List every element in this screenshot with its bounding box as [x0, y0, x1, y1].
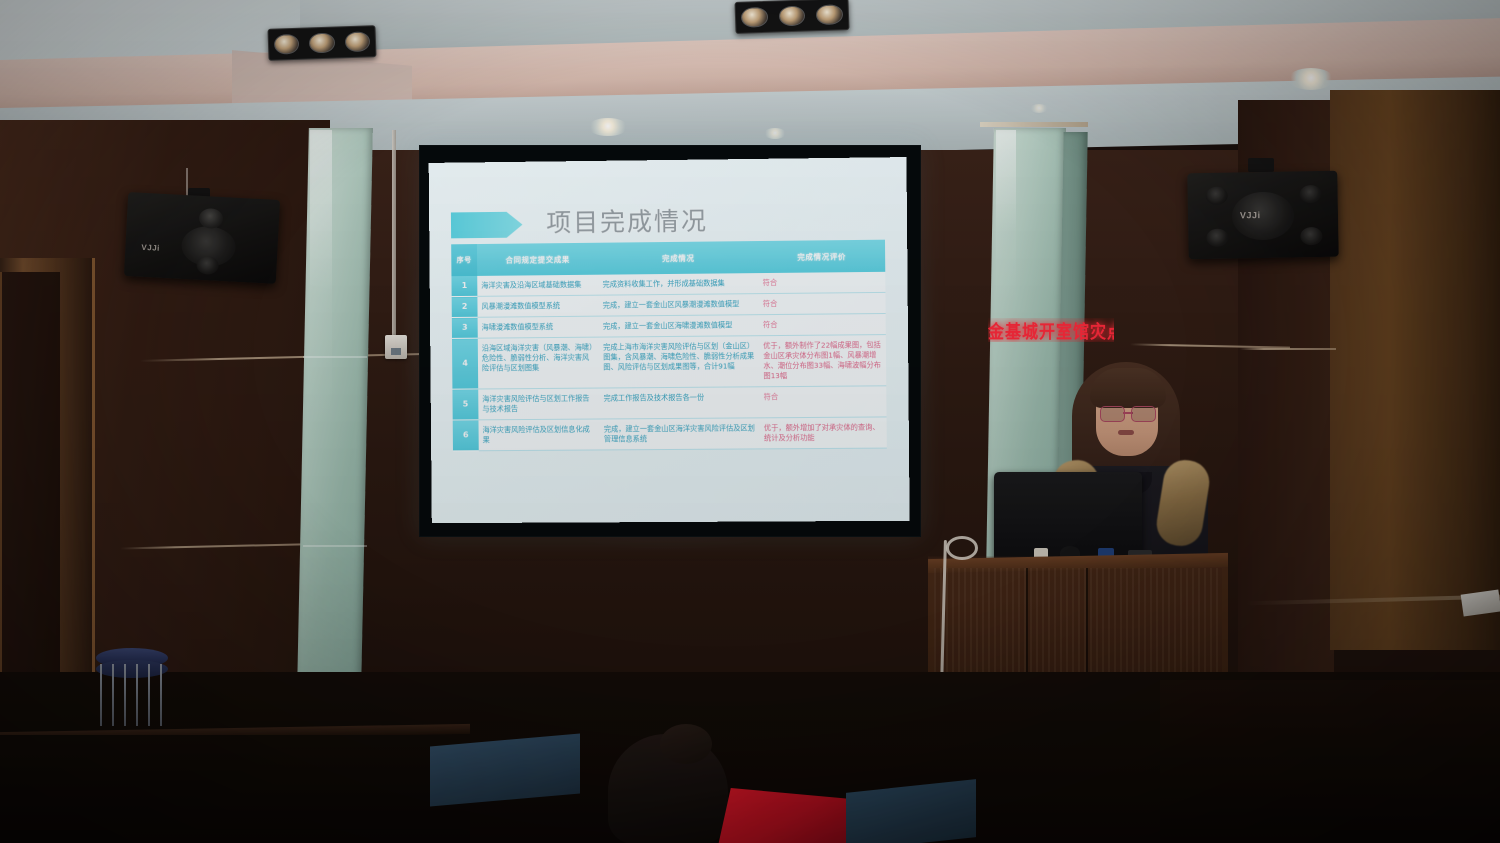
table-row: 4 沿海区域海洋灾害（风暴潮、海啸）危险性、脆弱性分析、海洋灾害风险评估与区划图…	[452, 335, 886, 390]
cell-no: 6	[453, 420, 479, 451]
glass-highlight	[996, 130, 1016, 310]
presenter-fringe	[1090, 368, 1166, 408]
cell-deliverable: 沿海区域海洋灾害（风暴潮、海啸）危险性、脆弱性分析、海洋灾害风险评估与区划图集	[478, 337, 600, 389]
slide-title: 项目完成情况	[546, 202, 708, 240]
glass-panel-seam	[303, 356, 367, 358]
speaker-tweeter-icon	[1299, 185, 1321, 203]
spotlight-lamp-icon	[309, 32, 335, 53]
cell-evaluation: 优于，额外增加了对承灾体的查询、统计及分析功能	[760, 417, 887, 449]
cell-status: 完成，建立一套金山区风暴潮漫滩数值模型	[599, 294, 759, 317]
foreground-right-shadow	[1160, 680, 1500, 843]
col-header-evaluation: 完成情况评价	[758, 240, 885, 273]
presenter-glasses	[1100, 406, 1156, 420]
cell-status: 完成，建立一套金山区海啸漫滩数值模型	[599, 315, 759, 337]
led-scrolling-banner: 金基城开室馆灾点	[988, 318, 1114, 342]
stool-seat-lower	[96, 660, 168, 678]
led-banner-text: 金基城开室馆灾点	[988, 318, 1114, 342]
mint-glass-column-left	[297, 128, 373, 688]
cell-evaluation: 优于，额外制作了22幅成果图，包括金山区承灾体分布图1幅、风暴潮增水、潮位分布图…	[759, 335, 886, 387]
wall-switch-plate[interactable]	[385, 335, 407, 359]
power-cable-loop	[946, 536, 978, 560]
stacked-stools[interactable]	[88, 648, 176, 736]
speaker-brand-label: VJJi	[141, 243, 160, 253]
cell-no: 3	[452, 317, 478, 338]
cell-no: 1	[451, 276, 477, 297]
stool-leg	[112, 664, 114, 726]
cell-deliverable: 风暴潮漫滩数值模型系统	[477, 295, 598, 317]
speaker-tweeter-icon	[1300, 227, 1322, 245]
right-wall-wood-panel	[1330, 90, 1500, 650]
stool-leg	[124, 664, 126, 726]
cell-evaluation: 符合	[759, 313, 886, 335]
glasses-lens-right-icon	[1131, 406, 1156, 422]
wall-trim-strip	[980, 122, 1088, 127]
audience-member-hair-bun	[660, 724, 712, 764]
switch-toggle-icon[interactable]	[391, 348, 401, 355]
ceiling-downlight	[1030, 104, 1048, 113]
ceiling-downlight	[588, 118, 628, 136]
table-row: 5 海洋灾害风险评估与区划工作报告与技术报告 完成工作报告及技术报告各一份 符合	[452, 386, 886, 420]
glass-highlight	[310, 130, 332, 430]
stool-leg	[100, 664, 102, 726]
presenter-mouth	[1118, 430, 1134, 435]
cell-evaluation: 符合	[759, 272, 886, 294]
title-arrow-shape	[451, 212, 523, 239]
stool-leg	[148, 664, 150, 726]
wall-speaker-left: VJJi	[124, 192, 280, 284]
cell-status: 完成上海市海洋灾害风险评估与区划（金山区）图集，含风暴潮、海啸危险性、脆弱性分析…	[599, 336, 759, 388]
ceiling-downlight	[1288, 68, 1334, 90]
spotlight-lamp-icon	[344, 31, 370, 52]
cell-evaluation: 符合	[760, 386, 887, 418]
stool-leg	[136, 664, 138, 726]
table-header-row: 序号 合同规定提交成果 完成情况 完成情况评价	[451, 240, 885, 277]
cell-deliverable: 海洋灾害风险评估与区划工作报告与技术报告	[478, 388, 600, 420]
spotlight-lamp-icon	[778, 5, 805, 27]
cell-status: 完成工作报告及技术报告各一份	[600, 387, 760, 419]
front-desk	[0, 735, 470, 843]
table-body: 1 海洋灾害及沿海区域基础数据集 完成资料收集工作，并形成基础数据集 符合 2 …	[451, 272, 886, 451]
speaker-tweeter-icon	[1206, 187, 1228, 205]
conference-room-photo: VJJi VJJi 项目完成情况 序号 合同规定提交成果 完成情况	[0, 0, 1500, 843]
ceiling-downlight	[764, 128, 786, 139]
ceiling-spotlight-fixture-right	[734, 0, 849, 34]
cell-no: 5	[452, 389, 478, 420]
cell-deliverable: 海洋灾害及沿海区域基础数据集	[477, 275, 598, 297]
cell-deliverable: 海洋灾害风险评估及区划信息化成果	[478, 419, 600, 451]
col-header-status: 完成情况	[598, 241, 758, 275]
table-header: 序号 合同规定提交成果 完成情况 完成情况评价	[451, 240, 885, 277]
col-header-no: 序号	[451, 244, 477, 276]
wall-speaker-right: VJJi	[1187, 171, 1338, 260]
spotlight-lamp-icon	[816, 4, 843, 26]
door-leaf-left[interactable]	[0, 272, 60, 672]
cell-no: 4	[452, 338, 478, 389]
spotlight-lamp-icon	[741, 7, 768, 29]
spotlight-lamp-icon	[274, 34, 300, 55]
cell-status: 完成，建立一套金山区海洋灾害风险评估及区划管理信息系统	[600, 418, 760, 450]
speaker-tweeter-icon	[1206, 229, 1228, 247]
wall-conduit	[392, 130, 396, 338]
wall-panel-seam	[1240, 348, 1336, 350]
cell-no: 2	[452, 296, 478, 317]
presentation-slide: 项目完成情况 序号 合同规定提交成果 完成情况 完成情况评价 1 海洋灾害及沿海…	[429, 157, 910, 523]
glass-panel-seam	[303, 545, 367, 547]
col-header-deliverable: 合同规定提交成果	[477, 243, 599, 276]
cell-deliverable: 海啸漫滩数值模型系统	[478, 316, 599, 338]
speaker-mount-bracket	[1248, 158, 1274, 172]
cell-status: 完成资料收集工作，并形成基础数据集	[599, 273, 759, 295]
speaker-tweeter-icon	[196, 256, 219, 275]
ceiling-spotlight-fixture-left	[267, 25, 376, 61]
slide-header: 项目完成情况	[429, 177, 907, 226]
speaker-brand-label: VJJi	[1240, 210, 1261, 220]
speaker-tweeter-icon	[199, 208, 224, 229]
table-row: 6 海洋灾害风险评估及区划信息化成果 完成，建立一套金山区海洋灾害风险评估及区划…	[453, 417, 887, 451]
cell-evaluation: 符合	[759, 292, 886, 314]
stool-leg	[160, 664, 162, 726]
glasses-lens-left-icon	[1100, 406, 1125, 422]
project-completion-table: 序号 合同规定提交成果 完成情况 完成情况评价 1 海洋灾害及沿海区域基础数据集…	[451, 240, 887, 452]
